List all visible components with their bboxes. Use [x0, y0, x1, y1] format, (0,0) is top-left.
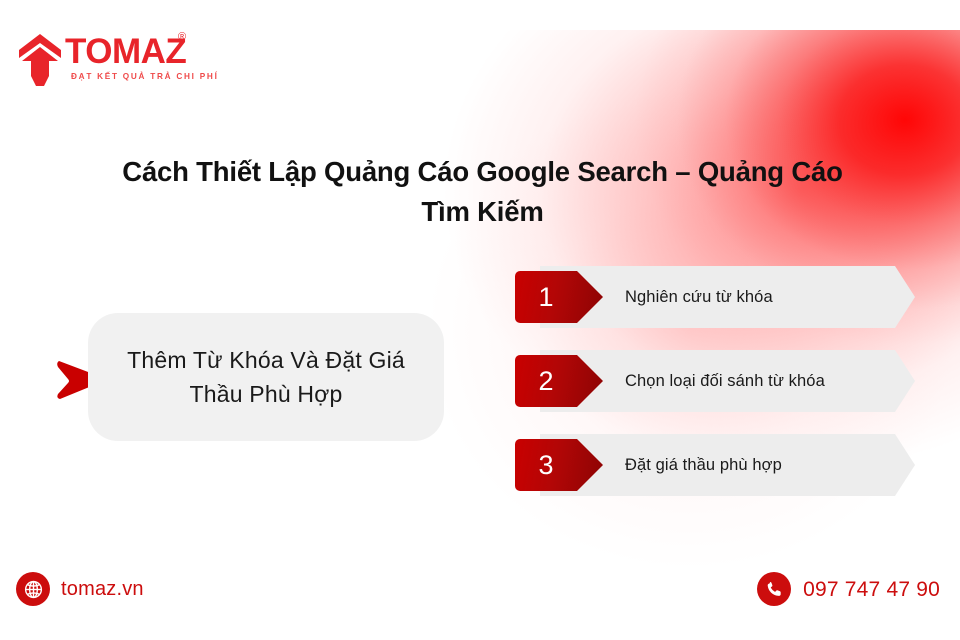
infographic-slide: TOMAZ ® ĐẠT KẾT QUẢ TRẢ CHI PHÍ Cách Thi…	[0, 0, 960, 640]
step-label: Nghiên cứu từ khóa	[625, 266, 773, 328]
footer-phone[interactable]: 097 747 47 90	[757, 572, 940, 606]
step-row-1[interactable]: 1 Nghiên cứu từ khóa	[515, 266, 915, 328]
website-text: tomaz.vn	[61, 579, 144, 599]
registered-trademark-symbol: ®	[178, 32, 186, 43]
brand-logo: TOMAZ ® ĐẠT KẾT QUẢ TRẢ CHI PHÍ	[18, 30, 248, 92]
phone-text: 097 747 47 90	[803, 579, 940, 600]
callout-text: Thêm Từ Khóa Và Đặt Giá Thầu Phù Hợp	[88, 313, 444, 441]
footer-website[interactable]: tomaz.vn	[16, 572, 144, 606]
step-number: 2	[515, 355, 577, 407]
tomaz-arrow-logo-icon	[18, 32, 62, 88]
brand-wordmark: TOMAZ	[65, 34, 186, 69]
phone-icon	[757, 572, 791, 606]
page-title: Cách Thiết Lập Quảng Cáo Google Search –…	[95, 152, 870, 232]
globe-icon	[16, 572, 50, 606]
brand-tagline: ĐẠT KẾT QUẢ TRẢ CHI PHÍ	[71, 73, 219, 81]
top-white-band	[0, 0, 960, 30]
callout-box: Thêm Từ Khóa Và Đặt Giá Thầu Phù Hợp	[88, 313, 444, 441]
step-label: Chọn loại đối sánh từ khóa	[625, 350, 825, 412]
step-row-3[interactable]: 3 Đặt giá thầu phù hợp	[515, 434, 915, 496]
step-row-2[interactable]: 2 Chọn loại đối sánh từ khóa	[515, 350, 915, 412]
step-number: 1	[515, 271, 577, 323]
step-number: 3	[515, 439, 577, 491]
step-label: Đặt giá thầu phù hợp	[625, 434, 782, 496]
steps-list: 1 Nghiên cứu từ khóa 2 Chọn loại đối sán…	[515, 266, 915, 506]
